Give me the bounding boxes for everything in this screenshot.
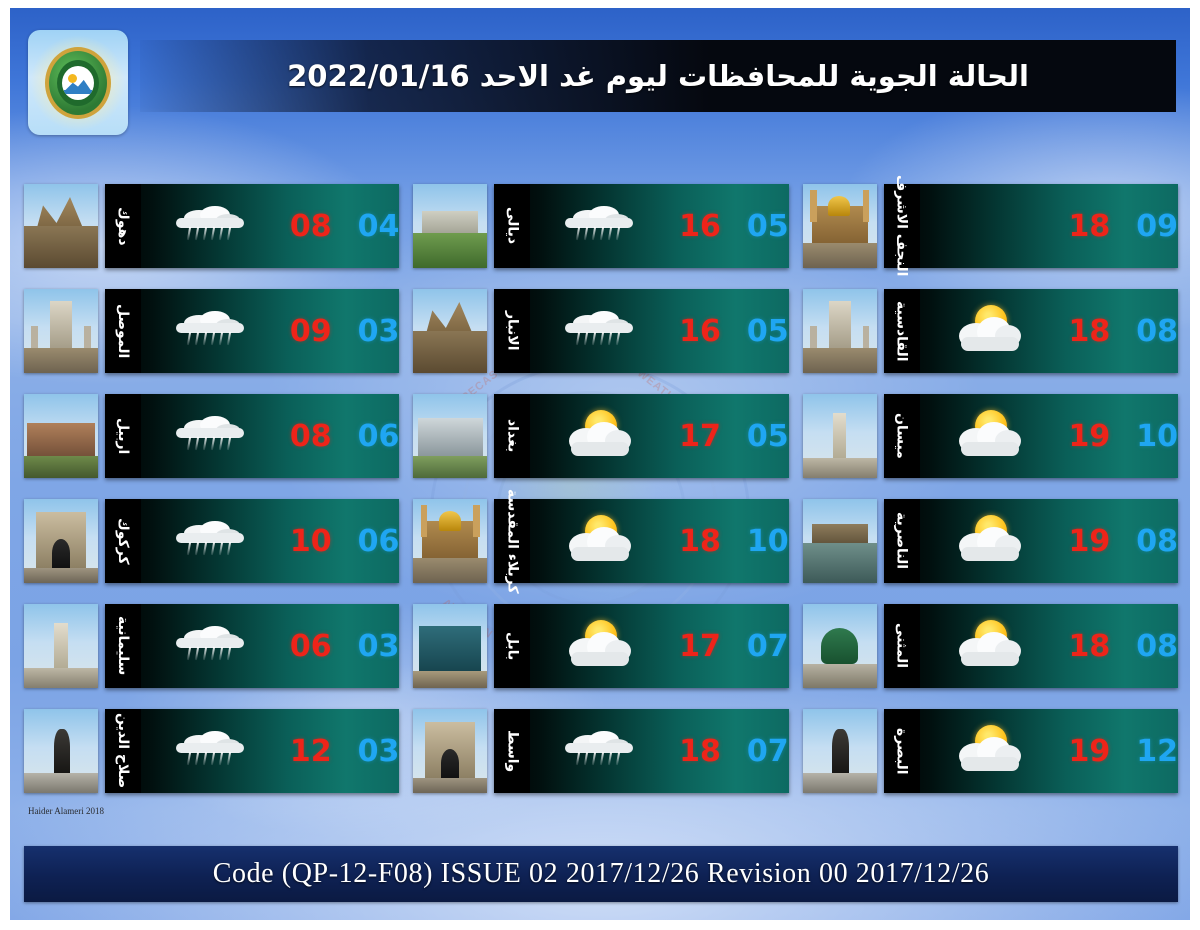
- rain-drop: [219, 437, 223, 450]
- temperature-pair: 1807: [655, 734, 789, 769]
- max-temperature: 08: [290, 419, 332, 454]
- min-temperature: 09: [1136, 209, 1178, 244]
- min-temperature: 03: [358, 314, 400, 349]
- min-temperature: 10: [1136, 419, 1178, 454]
- rain-cloud-icon: [172, 406, 250, 466]
- forecast-row[interactable]: 1912البصرة: [803, 709, 1178, 793]
- forecast-card[interactable]: 1910ميسان: [884, 394, 1178, 478]
- max-temperature: 09: [290, 314, 332, 349]
- forecast-card[interactable]: 1707بابل: [494, 604, 788, 688]
- min-temperature: 05: [747, 419, 789, 454]
- governorate-label: ميسان: [884, 394, 920, 478]
- rain-drop: [187, 227, 191, 240]
- temperature-pair: 1908: [1045, 524, 1179, 559]
- min-temperature: 05: [747, 209, 789, 244]
- forecast-row[interactable]: 0603سليمانية: [24, 604, 399, 688]
- rain-drop: [187, 542, 191, 555]
- forecast-row[interactable]: 1910ميسان: [803, 394, 1178, 478]
- temperature-pair: 1707: [655, 629, 789, 664]
- partly-sunny-icon: [561, 616, 639, 676]
- rain-drop: [211, 647, 215, 660]
- governorate-name: صلاح الدين: [115, 713, 131, 788]
- no-condition-icon: [951, 196, 1029, 256]
- rain-cloud-icon: [561, 721, 639, 781]
- governorate-thumbnail: [803, 709, 877, 793]
- temperature-pair: 1605: [655, 209, 789, 244]
- footer-code-text: Code (QP-12-F08) ISSUE 02 2017/12/26 Rev…: [213, 858, 990, 890]
- max-temperature: 18: [1069, 209, 1111, 244]
- governorate-label: سليمانية: [105, 604, 141, 688]
- forecast-row[interactable]: 1605ديالى: [413, 184, 788, 268]
- partly-sunny-icon: [561, 511, 639, 571]
- governorate-name: ميسان: [894, 413, 910, 459]
- max-temperature: 19: [1069, 734, 1111, 769]
- rain-drop: [195, 752, 199, 765]
- max-temperature: 18: [679, 524, 721, 559]
- temperature-pair: 1605: [655, 314, 789, 349]
- logo-sun-icon: [68, 74, 77, 83]
- rain-drop: [227, 227, 231, 240]
- forecast-card[interactable]: 1809النجف الاشرف: [884, 184, 1178, 268]
- governorate-label: البصرة: [884, 709, 920, 793]
- governorate-name: بابل: [504, 632, 520, 660]
- rain-drop: [203, 437, 207, 450]
- forecast-card[interactable]: 1203صلاح الدين: [105, 709, 399, 793]
- governorate-name: سليمانية: [115, 616, 131, 675]
- forecast-row[interactable]: 1808المثنى: [803, 604, 1178, 688]
- governorate-label: النجف الاشرف: [884, 184, 920, 268]
- governorate-label: القادسية: [884, 289, 920, 373]
- max-temperature: 18: [1069, 629, 1111, 664]
- governorate-name: الموصل: [115, 304, 131, 358]
- temperature-pair: 1203: [266, 734, 400, 769]
- forecast-column-1: 1809النجف الاشرف1808القادسية1910ميسان190…: [803, 184, 1178, 793]
- governorate-thumbnail: [24, 394, 98, 478]
- rain-drop: [219, 647, 223, 660]
- forecast-row[interactable]: 0806اربيل: [24, 394, 399, 478]
- governorate-label: واسط: [494, 709, 530, 793]
- footer-bar: Code (QP-12-F08) ISSUE 02 2017/12/26 Rev…: [24, 846, 1178, 902]
- rain-drop: [203, 332, 207, 345]
- weather-authority-logo-icon: [28, 30, 128, 135]
- rain-drop: [211, 227, 215, 240]
- author-credit: Haider Alameri 2018: [28, 806, 104, 816]
- temperature-pair: 1810: [655, 524, 789, 559]
- governorate-name: اربيل: [115, 418, 131, 454]
- governorate-name: دهوك: [115, 207, 131, 246]
- min-temperature: 03: [358, 734, 400, 769]
- governorate-thumbnail: [413, 499, 487, 583]
- forecast-card[interactable]: 0903الموصل: [105, 289, 399, 373]
- governorate-label: الناصرية: [884, 499, 920, 583]
- temperature-pair: 1808: [1045, 629, 1179, 664]
- rain-drop: [600, 752, 604, 765]
- min-temperature: 08: [1136, 629, 1178, 664]
- forecast-row[interactable]: 1203صلاح الدين: [24, 709, 399, 793]
- temperature-pair: 0603: [266, 629, 400, 664]
- rain-drop: [592, 752, 596, 765]
- rain-drop: [227, 647, 231, 660]
- governorate-label: ديالى: [494, 184, 530, 268]
- governorate-thumbnail: [803, 184, 877, 268]
- rain-drop: [592, 227, 596, 240]
- max-temperature: 19: [1069, 419, 1111, 454]
- partly-sunny-icon: [951, 721, 1029, 781]
- max-temperature: 10: [290, 524, 332, 559]
- governorate-label: كربلاء المقدسة: [494, 499, 530, 583]
- forecast-card[interactable]: 1908الناصرية: [884, 499, 1178, 583]
- max-temperature: 16: [679, 209, 721, 244]
- governorate-thumbnail: [413, 709, 487, 793]
- max-temperature: 17: [679, 419, 721, 454]
- title-bar: الحالة الجوية للمحافظات ليوم غد الاحد 20…: [140, 40, 1176, 112]
- governorate-label: الانبار: [494, 289, 530, 373]
- temperature-pair: 0806: [266, 419, 400, 454]
- rain-drop: [576, 752, 580, 765]
- partly-sunny-icon: [951, 301, 1029, 361]
- temperature-pair: 0804: [266, 209, 400, 244]
- governorate-name: القادسية: [894, 301, 910, 362]
- forecast-row[interactable]: 1807واسط: [413, 709, 788, 793]
- temperature-pair: 1705: [655, 419, 789, 454]
- forecast-row[interactable]: 1809النجف الاشرف: [803, 184, 1178, 268]
- forecast-card[interactable]: 1807واسط: [494, 709, 788, 793]
- rain-drop: [211, 332, 215, 345]
- min-temperature: 08: [1136, 524, 1178, 559]
- max-temperature: 16: [679, 314, 721, 349]
- governorate-thumbnail: [24, 604, 98, 688]
- governorate-label: دهوك: [105, 184, 141, 268]
- rain-drop: [195, 542, 199, 555]
- rain-drop: [616, 227, 620, 240]
- governorate-thumbnail: [413, 184, 487, 268]
- forecast-row[interactable]: 1810كربلاء المقدسة: [413, 499, 788, 583]
- forecast-card[interactable]: 0603سليمانية: [105, 604, 399, 688]
- rain-drop: [211, 437, 215, 450]
- min-temperature: 03: [358, 629, 400, 664]
- rain-drop: [584, 332, 588, 345]
- rain-drop: [592, 332, 596, 345]
- rain-drop: [600, 227, 604, 240]
- min-temperature: 06: [358, 524, 400, 559]
- rain-drop: [203, 227, 207, 240]
- rain-cloud-icon: [172, 301, 250, 361]
- governorate-thumbnail: [24, 709, 98, 793]
- rain-drop: [195, 227, 199, 240]
- rain-drop: [203, 647, 207, 660]
- governorate-label: صلاح الدين: [105, 709, 141, 793]
- governorate-thumbnail: [803, 604, 877, 688]
- forecast-row[interactable]: 1908الناصرية: [803, 499, 1178, 583]
- governorate-thumbnail: [24, 184, 98, 268]
- governorate-thumbnail: [24, 499, 98, 583]
- min-temperature: 04: [358, 209, 400, 244]
- rain-drop: [584, 752, 588, 765]
- governorate-thumbnail: [803, 394, 877, 478]
- rain-drop: [195, 647, 199, 660]
- rain-drop: [195, 332, 199, 345]
- rain-drop: [219, 332, 223, 345]
- screenshot-page: FORECAST WEATHER AVIATION UN & BA الحالة…: [0, 0, 1200, 930]
- governorate-name: كربلاء المقدسة: [504, 489, 520, 594]
- governorate-thumbnail: [803, 289, 877, 373]
- rain-drop: [203, 752, 207, 765]
- governorate-name: الانبار: [504, 311, 520, 351]
- temperature-pair: 1808: [1045, 314, 1179, 349]
- logo-base-bar: [64, 90, 92, 94]
- rain-drop: [608, 752, 612, 765]
- forecast-row[interactable]: 1605الانبار: [413, 289, 788, 373]
- max-temperature: 08: [290, 209, 332, 244]
- min-temperature: 10: [747, 524, 789, 559]
- partly-sunny-icon: [951, 616, 1029, 676]
- weather-poster: FORECAST WEATHER AVIATION UN & BA الحالة…: [10, 8, 1190, 920]
- partly-sunny-icon: [951, 511, 1029, 571]
- governorate-label: بغداد: [494, 394, 530, 478]
- max-temperature: 18: [679, 734, 721, 769]
- governorate-name: بغداد: [504, 419, 520, 452]
- governorate-label: الموصل: [105, 289, 141, 373]
- rain-cloud-icon: [561, 196, 639, 256]
- forecast-card[interactable]: 1605ديالى: [494, 184, 788, 268]
- rain-drop: [600, 332, 604, 345]
- forecast-card[interactable]: 1810كربلاء المقدسة: [494, 499, 788, 583]
- min-temperature: 08: [1136, 314, 1178, 349]
- forecast-row[interactable]: 0903الموصل: [24, 289, 399, 373]
- forecast-card[interactable]: 0804دهوك: [105, 184, 399, 268]
- temperature-pair: 0903: [266, 314, 400, 349]
- forecast-row[interactable]: 1808القادسية: [803, 289, 1178, 373]
- governorate-label: المثنى: [884, 604, 920, 688]
- max-temperature: 06: [290, 629, 332, 664]
- rain-drop: [211, 752, 215, 765]
- rain-cloud-icon: [561, 301, 639, 361]
- forecast-card[interactable]: 1808المثنى: [884, 604, 1178, 688]
- rain-drop: [584, 227, 588, 240]
- temperature-pair: 1912: [1045, 734, 1179, 769]
- rain-drop: [187, 437, 191, 450]
- rain-drop: [227, 752, 231, 765]
- max-temperature: 17: [679, 629, 721, 664]
- governorate-name: البصرة: [894, 728, 910, 775]
- forecast-row[interactable]: 1707بابل: [413, 604, 788, 688]
- rain-drop: [219, 752, 223, 765]
- page-title: الحالة الجوية للمحافظات ليوم غد الاحد 20…: [287, 59, 1029, 93]
- rain-drop: [576, 332, 580, 345]
- governorate-thumbnail: [413, 604, 487, 688]
- rain-drop: [616, 332, 620, 345]
- governorate-thumbnail: [413, 289, 487, 373]
- temperature-pair: 1910: [1045, 419, 1179, 454]
- rain-drop: [608, 227, 612, 240]
- governorate-thumbnail: [803, 499, 877, 583]
- forecast-column-2: 1605ديالى1605الانبار1705بغداد1810كربلاء …: [413, 184, 788, 793]
- rain-drop: [211, 542, 215, 555]
- temperature-pair: 1809: [1045, 209, 1179, 244]
- partly-sunny-icon: [951, 406, 1029, 466]
- governorate-name: واسط: [504, 730, 520, 772]
- poster-header: الحالة الجوية للمحافظات ليوم غد الاحد 20…: [10, 8, 1190, 128]
- rain-cloud-icon: [172, 511, 250, 571]
- forecast-card[interactable]: 1006كركوك: [105, 499, 399, 583]
- rain-drop: [576, 227, 580, 240]
- governorate-name: المثنى: [894, 623, 910, 668]
- governorate-thumbnail: [24, 289, 98, 373]
- max-temperature: 12: [290, 734, 332, 769]
- rain-drop: [616, 752, 620, 765]
- governorate-label: كركوك: [105, 499, 141, 583]
- governorate-label: اربيل: [105, 394, 141, 478]
- rain-drop: [187, 752, 191, 765]
- forecast-grid: 1809النجف الاشرف1808القادسية1910ميسان190…: [24, 184, 1178, 793]
- logo-center-disc: [62, 66, 94, 100]
- max-temperature: 19: [1069, 524, 1111, 559]
- rain-drop: [195, 437, 199, 450]
- forecast-row[interactable]: 0804دهوك: [24, 184, 399, 268]
- rain-cloud-icon: [172, 616, 250, 676]
- governorate-name: الناصرية: [894, 512, 910, 569]
- forecast-card[interactable]: 1808القادسية: [884, 289, 1178, 373]
- forecast-card[interactable]: 0806اربيل: [105, 394, 399, 478]
- temperature-pair: 1006: [266, 524, 400, 559]
- min-temperature: 05: [747, 314, 789, 349]
- rain-drop: [608, 332, 612, 345]
- forecast-column-3: 0804دهوك0903الموصل0806اربيل1006كركوك0603…: [24, 184, 399, 793]
- rain-cloud-icon: [172, 196, 250, 256]
- rain-drop: [227, 332, 231, 345]
- rain-drop: [187, 332, 191, 345]
- rain-cloud-icon: [172, 721, 250, 781]
- rain-drop: [203, 542, 207, 555]
- rain-drop: [187, 647, 191, 660]
- forecast-card[interactable]: 1912البصرة: [884, 709, 1178, 793]
- forecast-row[interactable]: 1006كركوك: [24, 499, 399, 583]
- partly-sunny-icon: [561, 406, 639, 466]
- min-temperature: 07: [747, 629, 789, 664]
- forecast-card[interactable]: 1705بغداد: [494, 394, 788, 478]
- min-temperature: 12: [1136, 734, 1178, 769]
- forecast-row[interactable]: 1705بغداد: [413, 394, 788, 478]
- rain-drop: [227, 542, 231, 555]
- governorate-name: النجف الاشرف: [894, 175, 910, 276]
- governorate-name: ديالى: [504, 207, 520, 244]
- min-temperature: 06: [358, 419, 400, 454]
- governorate-label: بابل: [494, 604, 530, 688]
- rain-drop: [227, 437, 231, 450]
- max-temperature: 18: [1069, 314, 1111, 349]
- governorate-name: كركوك: [115, 518, 131, 565]
- forecast-card[interactable]: 1605الانبار: [494, 289, 788, 373]
- governorate-thumbnail: [413, 394, 487, 478]
- rain-drop: [219, 227, 223, 240]
- rain-drop: [219, 542, 223, 555]
- min-temperature: 07: [747, 734, 789, 769]
